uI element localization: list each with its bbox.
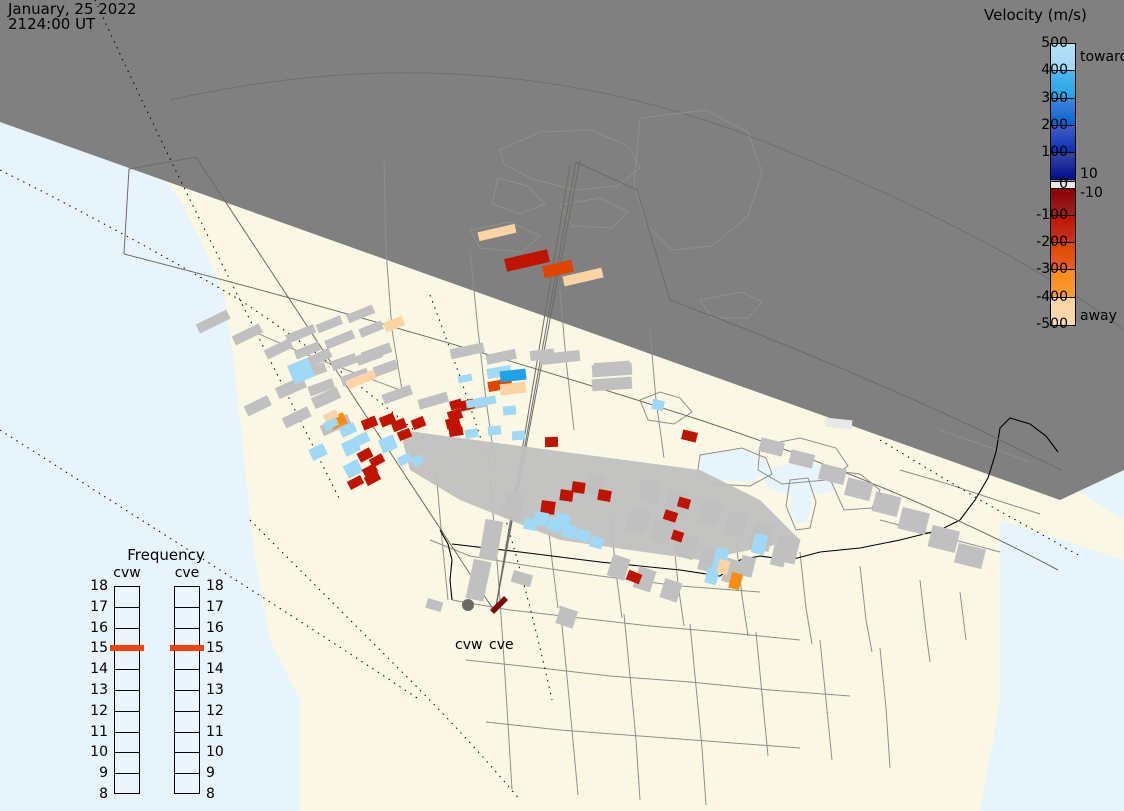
superdarn-velocity-map: January, 25 2022 2124:00 UT Velocity (m/… [0,0,1124,811]
velocity-tick-200: 200 [1008,118,1068,132]
velocity-toward-label: toward [1080,50,1124,64]
velocity-tick--100: -100 [1008,208,1068,222]
velocity-tick--500: -500 [1008,317,1068,331]
velocity-negative-threshold-label: -10 [1080,186,1103,200]
velocity-tick--400: -400 [1008,290,1068,304]
frequency-segment [175,608,199,629]
frequency-segment [175,670,199,691]
frequency-tick-cve-12: 12 [206,704,224,718]
frequency-segment [115,712,139,733]
frequency-segment [115,587,139,608]
frequency-tick-cvw-18: 18 [84,579,108,593]
radar-site-dot[interactable] [462,599,474,611]
frequency-tick-cve-16: 16 [206,621,224,635]
frequency-segment [115,774,139,795]
timestamp-block: January, 25 2022 2124:00 UT [8,2,136,32]
frequency-segment [115,753,139,774]
frequency-tick-cvw-10: 10 [84,745,108,759]
velocity-legend-title: Velocity (m/s) [984,6,1124,24]
frequency-segment [175,733,199,754]
frequency-segment [115,670,139,691]
frequency-segment [115,733,139,754]
frequency-bar-cvw[interactable] [114,586,140,794]
radar-site-label-cvw: cvw [455,637,482,653]
frequency-marker-cve [170,645,204,651]
frequency-tick-cve-15: 15 [206,641,224,655]
velocity-legend: Velocity (m/s) 5004003002001000-100-200-… [978,4,1124,334]
frequency-tick-cve-9: 9 [206,766,215,780]
frequency-tick-cvw-11: 11 [84,725,108,739]
velocity-tick-500: 500 [1008,36,1068,50]
frequency-segment [175,649,199,670]
velocity-positive-threshold-label: 10 [1080,167,1098,181]
radar-beam-highlight [490,596,508,614]
frequency-segment [115,649,139,670]
velocity-tick--300: -300 [1008,262,1068,276]
frequency-legend: Frequency cvw18171615141312111098cve1817… [84,546,244,786]
time-label: 2124:00 UT [8,17,136,32]
frequency-tick-cve-10: 10 [206,745,224,759]
frequency-segment [175,587,199,608]
frequency-column-name-cvw: cvw [107,565,147,581]
frequency-tick-cve-18: 18 [206,579,224,593]
velocity-tick-100: 100 [1008,145,1068,159]
frequency-tick-cvw-8: 8 [84,787,108,801]
frequency-segment [175,691,199,712]
frequency-segment [115,691,139,712]
velocity-tick-300: 300 [1008,91,1068,105]
radar-site-label-cve: cve [489,637,514,653]
frequency-tick-cvw-12: 12 [84,704,108,718]
velocity-tick-400: 400 [1008,63,1068,77]
frequency-segment [175,712,199,733]
velocity-away-label: away [1080,309,1117,323]
frequency-tick-cve-11: 11 [206,725,224,739]
frequency-column-name-cve: cve [167,565,207,581]
frequency-segment [175,774,199,795]
frequency-bar-cve[interactable] [174,586,200,794]
frequency-tick-cve-8: 8 [206,787,215,801]
frequency-tick-cvw-15: 15 [84,641,108,655]
frequency-legend-title: Frequency [106,546,226,564]
frequency-segment [175,753,199,774]
frequency-tick-cve-14: 14 [206,662,224,676]
frequency-tick-cvw-16: 16 [84,621,108,635]
frequency-tick-cve-17: 17 [206,600,224,614]
frequency-tick-cvw-14: 14 [84,662,108,676]
frequency-marker-cvw [110,645,144,651]
frequency-segment [115,608,139,629]
velocity-tick--200: -200 [1008,235,1068,249]
frequency-tick-cvw-9: 9 [84,766,108,780]
frequency-tick-cve-13: 13 [206,683,224,697]
velocity-tick-0: 0 [1008,177,1068,191]
frequency-tick-cvw-17: 17 [84,600,108,614]
frequency-tick-cvw-13: 13 [84,683,108,697]
